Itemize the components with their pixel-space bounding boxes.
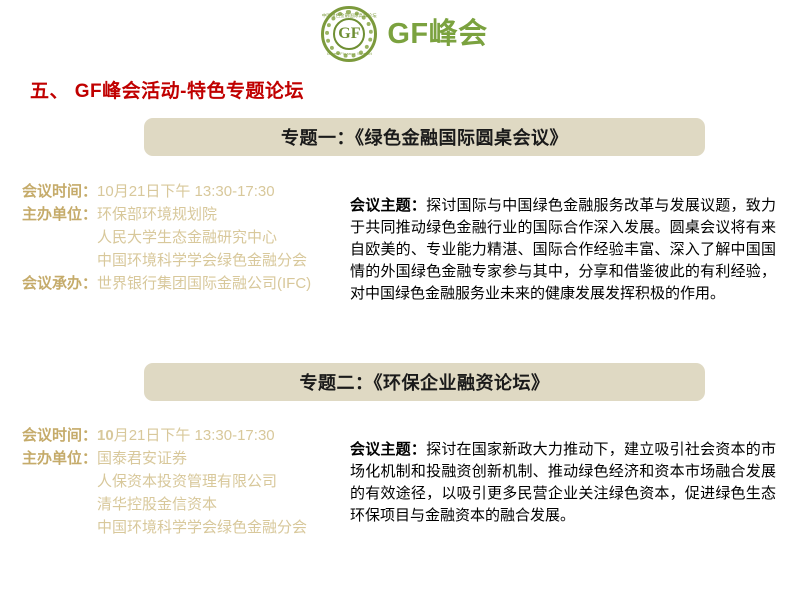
forum-2-organizer-row-3: 主办单位： 清华控股金信资本 (22, 493, 350, 516)
forum-1-organizer-value-1: 环保部环境规划院 (97, 203, 217, 226)
forum-1-time-row: 会议时间： 10月21日下午 13:30-17:30 (22, 180, 350, 203)
forum-2-time-value-bold: 10 (97, 427, 114, 444)
forum-1-host-label: 会议承办： (22, 272, 97, 295)
forum-1-host-row: 会议承办： 世界银行集团国际金融公司(IFC) (22, 272, 350, 295)
forum-1-organizer-label: 主办单位： (22, 203, 97, 226)
forum-2-meta-column: 会议时间： 10月21日下午 13:30-17:30 主办单位： 国泰君安证券 … (0, 424, 350, 539)
forum-section-2: 会议时间： 10月21日下午 13:30-17:30 主办单位： 国泰君安证券 … (0, 424, 809, 542)
forum-1-organizer-value-2: 人民大学生态金融研究中心 (97, 226, 277, 249)
forum-2-time-row: 会议时间： 10月21日下午 13:30-17:30 (22, 424, 350, 447)
forum-2-organizer-label: 主办单位： (22, 447, 97, 470)
forum-2-time-label: 会议时间： (22, 424, 97, 447)
forum-1-organizer-row-3: 主办单位： 中国环境科学学会绿色金融分会 (22, 249, 350, 272)
forum-1-time-label: 会议时间： (22, 180, 97, 203)
forum-2-time-value: 10月21日下午 13:30-17:30 (97, 424, 275, 447)
forum-2-topic-paragraph: 会议主题：探讨在国家新政大力推动下，建立吸引社会资本的市场化机制和投融资创新机制… (350, 439, 776, 527)
forum-1-host-value: 世界银行集团国际金融公司(IFC) (97, 272, 311, 295)
forum-section-1: 会议时间： 10月21日下午 13:30-17:30 主办单位： 环保部环境规划… (0, 180, 809, 320)
forum-2-time-value-rest: 月21日下午 13:30-17:30 (114, 427, 275, 444)
forum-1-time-value: 10月21日下午 13:30-17:30 (97, 180, 275, 203)
forum-1-organizer-row-1: 主办单位： 环保部环境规划院 (22, 203, 350, 226)
forum-banner-1: 专题一：《绿色金融国际圆桌会议》 (144, 118, 705, 156)
forum-2-organizer-row-2: 主办单位： 人保资本投资管理有限公司 (22, 470, 350, 493)
forum-2-organizer-row-4: 主办单位： 中国环境科学学会绿色金融分会 (22, 516, 350, 539)
forum-1-meta-column: 会议时间： 10月21日下午 13:30-17:30 主办单位： 环保部环境规划… (0, 180, 350, 295)
forum-1-organizer-value-3: 中国环境科学学会绿色金融分会 (97, 249, 307, 272)
forum-2-organizer-value-4: 中国环境科学学会绿色金融分会 (97, 516, 307, 539)
forum-2-organizer-value-3: 清华控股金信资本 (97, 493, 217, 516)
forum-1-organizer-row-2: 主办单位： 人民大学生态金融研究中心 (22, 226, 350, 249)
seal-gf-monogram: GF (333, 18, 365, 50)
seal-arc-bottom-text: Green Finance Summit (321, 51, 377, 56)
forum-banner-2: 专题二：《环保企业融资论坛》 (144, 363, 705, 401)
forum-1-topic-paragraph: 会议主题：探讨国际与中国绿色金融服务改革与发展议题，致力于共同推动绿色金融行业的… (350, 195, 776, 305)
forum-2-topic-label: 会议主题： (350, 441, 426, 458)
page-title: 五、 GF峰会活动-特色专题论坛 (30, 76, 809, 103)
gf-summit-seal-icon: 中国绿色金融国际高峰论坛 Green Finance Summit GF (321, 6, 377, 62)
forum-1-topic-column: 会议主题：探讨国际与中国绿色金融服务改革与发展议题，致力于共同推动绿色金融行业的… (350, 180, 790, 320)
forum-2-organizer-value-2: 人保资本投资管理有限公司 (97, 470, 277, 493)
forum-1-topic-label: 会议主题： (350, 197, 426, 214)
page-header: 中国绿色金融国际高峰论坛 Green Finance Summit GF GF峰… (0, 0, 809, 62)
forum-2-organizer-value-1: 国泰君安证券 (97, 447, 187, 470)
brand-title: GF峰会 (387, 20, 487, 49)
forum-2-organizer-row-1: 主办单位： 国泰君安证券 (22, 447, 350, 470)
forum-2-topic-column: 会议主题：探讨在国家新政大力推动下，建立吸引社会资本的市场化机制和投融资创新机制… (350, 424, 790, 542)
